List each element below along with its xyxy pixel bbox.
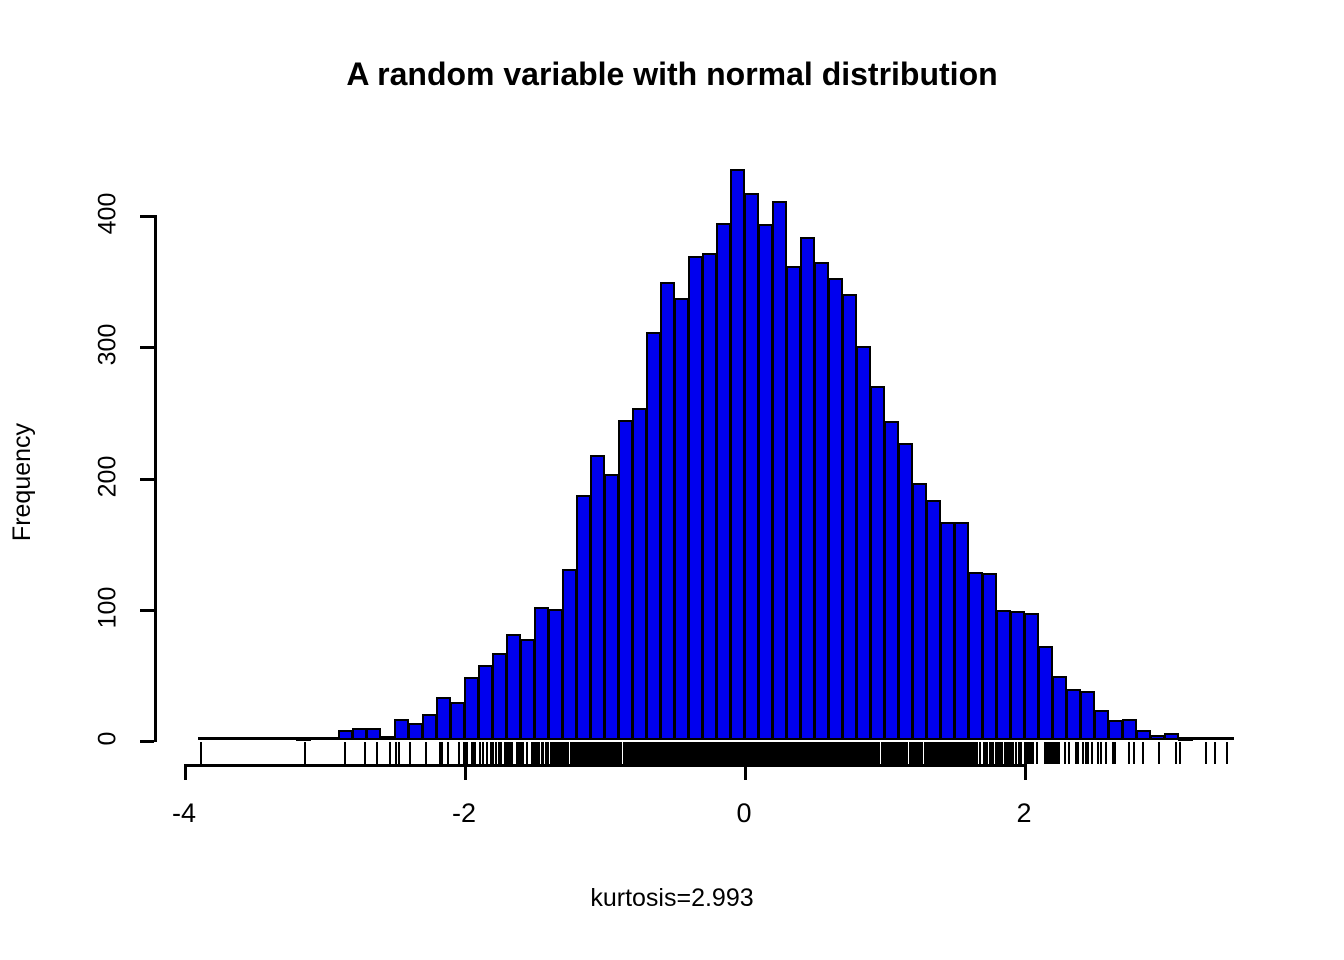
rug-tick (677, 742, 679, 764)
rug-tick (960, 742, 962, 764)
y-axis-tick (140, 609, 154, 612)
y-axis-line (154, 215, 157, 742)
y-axis-tick (140, 478, 154, 481)
histogram-bar (772, 201, 787, 740)
histogram-bar (520, 639, 535, 740)
histogram-bar (590, 455, 605, 740)
rug-tick (447, 742, 449, 764)
histogram-bar (464, 677, 479, 740)
rug-tick (633, 742, 635, 764)
histogram-bar (422, 714, 437, 740)
rug-tick (944, 742, 946, 764)
rug-tick (926, 742, 928, 764)
rug-tick (916, 742, 918, 764)
rug-tick (466, 742, 468, 764)
histogram-bar (282, 737, 296, 740)
histogram-bar (562, 569, 577, 740)
histogram-bar (744, 193, 759, 740)
rug-tick (819, 742, 821, 764)
rug-tick (1047, 742, 1049, 764)
histogram-bar (1164, 733, 1179, 740)
histogram-bar (338, 730, 353, 741)
rug-tick (1100, 742, 1102, 764)
histogram-bar (268, 737, 282, 740)
rug-tick (975, 742, 977, 764)
rug-tick (624, 742, 626, 764)
histogram-bar (198, 737, 212, 740)
rug-tick (1008, 742, 1010, 764)
rug-tick (955, 742, 957, 764)
rug-tick (551, 742, 553, 764)
histogram-bar (492, 653, 507, 740)
histogram-bar (240, 737, 254, 740)
rug-tick (920, 742, 922, 764)
histogram-bar (1206, 737, 1220, 740)
rug-tick (789, 742, 791, 764)
histogram-bar (870, 386, 885, 740)
x-axis-tick (464, 764, 467, 780)
rug-tick (983, 742, 985, 764)
y-axis-tick-label: 300 (94, 315, 123, 375)
rug-tick (597, 742, 599, 764)
rug-tick (735, 742, 737, 764)
histogram-bar (716, 223, 731, 740)
histogram-bar (1192, 737, 1206, 740)
rug-tick (753, 742, 755, 764)
rug-tick (1036, 742, 1038, 764)
histogram-bar (604, 474, 619, 740)
y-axis-tick (140, 215, 154, 218)
rug-tick (1085, 742, 1087, 764)
histogram-bar (1122, 719, 1137, 740)
x-axis-line (184, 764, 1027, 767)
rug-tick (643, 742, 645, 764)
histogram-bar (394, 719, 409, 740)
rug-tick (409, 742, 411, 764)
rug-tick (474, 742, 476, 764)
rug-tick (667, 742, 669, 764)
rug-tick (933, 742, 935, 764)
rug-tick (479, 742, 481, 764)
histogram-bar (982, 573, 997, 740)
rug-tick (1205, 742, 1207, 764)
rug-tick (833, 742, 835, 764)
histogram-bar (786, 266, 801, 740)
rug-tick (691, 742, 693, 764)
rug-tick (971, 742, 973, 764)
rug-tick (914, 742, 916, 764)
rug-tick (656, 742, 658, 764)
rug-tick (1053, 742, 1055, 764)
rug-tick (1128, 742, 1130, 764)
histogram-bar (856, 346, 871, 740)
rug-tick (793, 742, 795, 764)
rug-tick (861, 742, 863, 764)
rug-tick (962, 742, 964, 764)
rug-tick (903, 742, 905, 764)
rug-tick (890, 742, 892, 764)
rug-tick (398, 742, 400, 764)
rug-tick (1142, 742, 1144, 764)
rug-tick (492, 742, 494, 764)
rug-tick (1015, 742, 1017, 764)
histogram-bar (688, 256, 703, 740)
y-axis-tick-label: 0 (94, 709, 123, 769)
rug-tick (872, 742, 874, 764)
rug-tick (992, 742, 994, 764)
histogram-bar (1066, 689, 1081, 740)
histogram-bar (254, 737, 268, 740)
histogram-bar (1080, 691, 1095, 740)
rug-tick (778, 742, 780, 764)
rug-tick (458, 742, 460, 764)
rug-tick (464, 742, 466, 764)
rug-tick (997, 742, 999, 764)
rug-tick (582, 742, 584, 764)
y-axis-tick-label: 400 (94, 184, 123, 244)
histogram-bar (548, 609, 563, 740)
rug-tick (646, 742, 648, 764)
rug-tick (990, 742, 992, 764)
rug-tick (304, 742, 306, 764)
rug-tick (1091, 742, 1093, 764)
histogram-bar (1038, 646, 1053, 741)
histogram-bar (1136, 730, 1151, 741)
rug-tick (521, 742, 523, 764)
rug-tick (881, 742, 883, 764)
histogram-bar (366, 728, 381, 740)
histogram-bar (758, 224, 773, 740)
rug-tick (526, 742, 528, 764)
histogram-bar (310, 737, 324, 740)
rug-tick (495, 742, 497, 764)
rug-tick (1001, 742, 1003, 764)
histogram-bar (884, 421, 899, 740)
rug-tick (1005, 742, 1007, 764)
y-axis-tick-label: 100 (94, 577, 123, 637)
histogram-bar (1010, 611, 1025, 740)
rug-tick (554, 742, 556, 764)
rug-tick (605, 742, 607, 764)
histogram-bar (1108, 720, 1123, 740)
x-axis-tick-label: -2 (424, 798, 504, 829)
rug-tick (610, 742, 612, 764)
rug-tick (1058, 742, 1060, 764)
rug-tick (887, 742, 889, 764)
x-axis-tick (1024, 764, 1027, 780)
histogram-bar (1052, 676, 1067, 740)
histogram-bar (814, 262, 829, 740)
rug-tick (536, 742, 538, 764)
histogram-bar (380, 736, 395, 740)
rug-tick (802, 742, 804, 764)
x-axis-tick-label: 0 (704, 798, 784, 829)
rug-tick (1019, 742, 1021, 764)
rug-tick (759, 742, 761, 764)
rug-tick (573, 742, 575, 764)
rug-tick (538, 742, 540, 764)
rug-tick (986, 742, 988, 764)
rug-tick (893, 742, 895, 764)
rug-tick (948, 742, 950, 764)
rug-tick (1175, 742, 1177, 764)
rug-tick (851, 742, 853, 764)
histogram-bar (450, 702, 465, 740)
rug-tick (783, 742, 785, 764)
histogram-bar (646, 332, 661, 740)
rug-tick (425, 742, 427, 764)
rug-tick (1179, 742, 1181, 764)
histogram-bar (436, 697, 451, 740)
rug-tick (486, 742, 488, 764)
rug-tick (588, 742, 590, 764)
histogram-bar (730, 169, 745, 740)
histogram-bar (674, 298, 689, 740)
rug-tick (724, 742, 726, 764)
rug-tick (822, 742, 824, 764)
rug-tick (739, 742, 741, 764)
rug-tick (600, 742, 602, 764)
rug-tick (364, 742, 366, 764)
rug-tick (567, 742, 569, 764)
histogram-bar (1150, 735, 1165, 740)
rug-tick (389, 742, 391, 764)
rug-tick (200, 742, 202, 764)
histogram-bar (1178, 737, 1193, 741)
y-axis-tick (140, 346, 154, 349)
rug-tick (1087, 742, 1089, 764)
rug-tick (344, 742, 346, 764)
histogram-bar (408, 723, 423, 740)
y-axis-tick-label: 200 (94, 446, 123, 506)
histogram-bar (576, 495, 591, 740)
histogram-bar (618, 420, 633, 740)
rug-tick (441, 742, 443, 764)
histogram-bar (926, 500, 941, 740)
rug-tick (1133, 742, 1135, 764)
histogram-bar (1024, 613, 1039, 740)
rug-tick (1158, 742, 1160, 764)
histogram-bar (800, 237, 815, 740)
histogram-bar (940, 522, 955, 740)
rug-tick (545, 742, 547, 764)
rug-tick (612, 742, 614, 764)
rug-tick (747, 742, 749, 764)
histogram-bar (212, 737, 226, 740)
histogram-bar (898, 443, 913, 740)
rug-tick (570, 742, 572, 764)
rug-tick (730, 742, 732, 764)
rug-tick (547, 742, 549, 764)
rug-tick (857, 742, 859, 764)
histogram-bar (324, 737, 338, 740)
rug-tick (877, 742, 879, 764)
histogram-bar (352, 728, 367, 740)
rug-tick (769, 742, 771, 764)
rug-tick (1114, 742, 1116, 764)
rug-tick (579, 742, 581, 764)
chart-canvas: A random variable with normal distributi… (0, 0, 1344, 960)
rug-tick (965, 742, 967, 764)
rug-tick (482, 742, 484, 764)
rug-tick (843, 742, 845, 764)
rug-tick (900, 742, 902, 764)
rug-tick (395, 742, 397, 764)
rug-tick (796, 742, 798, 764)
histogram-bar (702, 253, 717, 740)
histogram-bar (660, 282, 675, 740)
histogram-bar (1094, 710, 1109, 740)
rug-tick (807, 742, 809, 764)
rug-tick (594, 742, 596, 764)
rug-tick (1082, 742, 1084, 764)
histogram-bar (506, 634, 521, 740)
histogram-bar (842, 294, 857, 740)
rug-tick (471, 742, 473, 764)
rug-tick (1026, 742, 1028, 764)
y-axis-tick (140, 740, 154, 743)
histogram-bar (534, 607, 549, 740)
x-axis-tick (744, 764, 747, 780)
x-axis-tick-label: 2 (984, 798, 1064, 829)
histogram-bar (632, 408, 647, 740)
rug-tick (1105, 742, 1107, 764)
rug-tick (708, 742, 710, 764)
rug-tick (717, 742, 719, 764)
rug-tick (810, 742, 812, 764)
rug-tick (765, 742, 767, 764)
rug-tick (704, 742, 706, 764)
histogram-bar (828, 278, 843, 740)
rug-tick (979, 742, 981, 764)
rug-tick (1032, 742, 1034, 764)
rug-tick (500, 742, 502, 764)
rug-tick (1226, 742, 1228, 764)
histogram-bar (954, 522, 969, 740)
rug-tick (376, 742, 378, 764)
rug-tick (1097, 742, 1099, 764)
rug-tick (750, 742, 752, 764)
rug-tick (828, 742, 830, 764)
rug-tick (559, 742, 561, 764)
plot-area: 0100200300400 -4-202 (0, 0, 1344, 960)
histogram-bar (996, 610, 1011, 740)
x-axis-tick-label: -4 (144, 798, 224, 829)
rug-tick (1011, 742, 1013, 764)
rug-tick (620, 742, 622, 764)
rug-tick (1029, 742, 1031, 764)
rug-tick (1075, 742, 1077, 764)
rug-tick (1064, 742, 1066, 764)
rug-tick (650, 742, 652, 764)
histogram-bar (296, 737, 311, 741)
rug-tick (511, 742, 513, 764)
histogram-bar (968, 572, 983, 740)
histogram-bar (912, 483, 927, 740)
rug-tick (774, 742, 776, 764)
rug-tick (1214, 742, 1216, 764)
x-axis-tick (184, 764, 187, 780)
rug-tick (929, 742, 931, 764)
rug-tick (720, 742, 722, 764)
histogram-bar (478, 665, 493, 740)
rug-tick (541, 742, 543, 764)
histogram-bar (1220, 737, 1234, 740)
rug-tick (849, 742, 851, 764)
rug-tick (1068, 742, 1070, 764)
rug-tick (696, 742, 698, 764)
histogram-bar (226, 737, 240, 740)
rug-tick (767, 742, 769, 764)
